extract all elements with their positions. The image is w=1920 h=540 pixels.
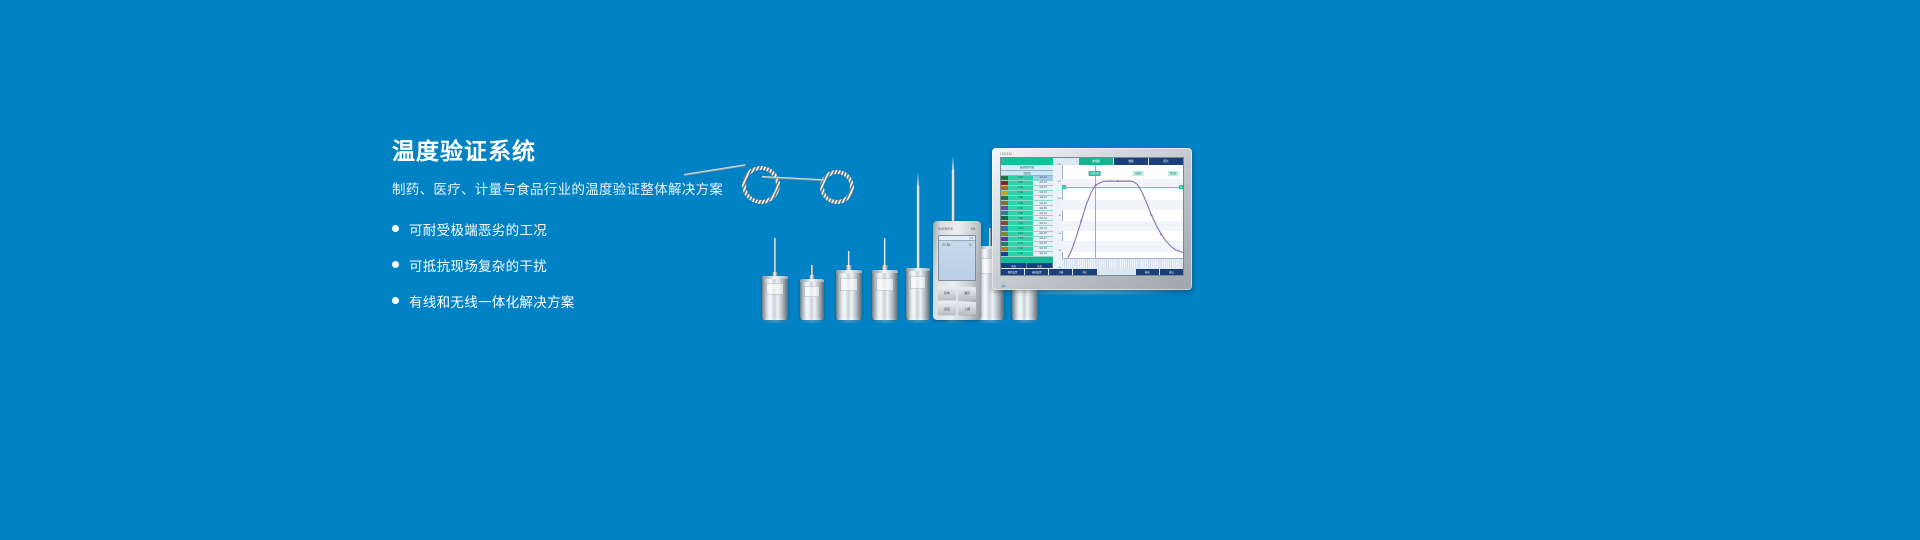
- channel-value: 121.55: [1033, 206, 1053, 210]
- channel-name: T-01: [1008, 176, 1033, 180]
- reader-keypad[interactable]: 菜单 确定 返回 上翻: [938, 287, 976, 315]
- channel-color-swatch: [1001, 186, 1008, 190]
- probe-needle-sensor: [906, 260, 930, 320]
- stop-button[interactable]: 停止: [1073, 269, 1096, 275]
- channel-name: T-15: [1008, 247, 1033, 251]
- param-settings-button[interactable]: 参数设置: [1001, 269, 1024, 275]
- probe-sensor: [800, 268, 824, 320]
- bullet-dot-icon: [392, 225, 399, 232]
- monitor-bezel: INON 曲线图 数据 报告: [992, 148, 1192, 290]
- channel-name: T-16: [1008, 252, 1033, 256]
- channel-name: T-08: [1008, 211, 1033, 215]
- bullet-dot-icon: [392, 297, 399, 304]
- probe-coil-icon: [820, 170, 854, 204]
- reader-key-up[interactable]: 上翻: [958, 302, 976, 315]
- channel-value: 121.29: [1033, 201, 1053, 205]
- channel-color-swatch: [1001, 252, 1008, 256]
- reader-key-confirm[interactable]: 确定: [958, 287, 976, 300]
- chart-data-point: [1095, 183, 1097, 185]
- channel-value: 121.31: [1033, 226, 1053, 230]
- channel-name: T-12: [1008, 232, 1033, 236]
- probe-shadow: [797, 317, 827, 324]
- channel-value: 121.27: [1033, 237, 1053, 241]
- chart-y-tick: 120: [1057, 181, 1061, 183]
- channel-value: 121.44: [1033, 221, 1053, 225]
- channel-color-swatch: [1001, 242, 1008, 246]
- chart-curve: [1062, 165, 1183, 269]
- probe-label: [877, 278, 894, 291]
- channel-value: 121.40: [1033, 211, 1053, 215]
- probe-shadow: [759, 317, 791, 324]
- report-button[interactable]: 报表: [1136, 269, 1159, 275]
- channel-name: T-05: [1008, 196, 1033, 200]
- channel-name: T-10: [1008, 221, 1033, 225]
- channel-row[interactable]: T-16121.45: [1001, 252, 1053, 257]
- probe-shadow: [903, 317, 933, 324]
- channel-name: T-14: [1008, 242, 1033, 246]
- reader-key-back[interactable]: 返回: [938, 302, 956, 315]
- reader-wifi-icon: wifi: [969, 237, 973, 240]
- channel-name: T-11: [1008, 226, 1033, 230]
- chart-y-tick: 20: [1059, 267, 1061, 269]
- probe-sensor: [762, 264, 788, 320]
- channel-name: T-09: [1008, 216, 1033, 220]
- probe-body-icon: [836, 270, 862, 320]
- probe-stem-icon: [989, 228, 991, 246]
- channel-value: 121.42: [1033, 176, 1053, 180]
- start-button[interactable]: 开始: [1049, 269, 1072, 275]
- monitor-brand-label: INON: [1000, 151, 1012, 156]
- probe-body-icon: [906, 268, 930, 320]
- channel-panel: 通道配置列表 温度值 T-01121.42T-02121.38T-03121.5…: [1001, 165, 1053, 269]
- product-scene: INONIKE M1 wifi 27.35 ℃ 菜单 确定 返回 上翻: [700, 110, 1220, 320]
- channel-name: T-07: [1008, 206, 1033, 210]
- channel-value: 121.51: [1033, 186, 1053, 190]
- software-screen: 曲线图 数据 报告 通道配置列表 温度值 T-01121.42T-02121.3…: [1000, 157, 1184, 276]
- probe-shadow: [833, 317, 865, 324]
- channel-value: 121.38: [1033, 181, 1053, 185]
- exit-button[interactable]: 退出: [1160, 269, 1183, 275]
- channel-value: 121.33: [1033, 191, 1053, 195]
- chart-y-tick: 60: [1059, 233, 1061, 235]
- monitor-power-led-icon: [1002, 285, 1005, 288]
- reader-model-label: M1: [971, 227, 976, 231]
- chart-canvas: A B 灭菌开始 时间点 保温段 降温段 F0值 结束: [1062, 165, 1183, 269]
- channel-value: 121.53: [1033, 242, 1053, 246]
- probe-body-icon: [800, 279, 824, 320]
- chart-y-tick: 100: [1057, 198, 1061, 200]
- channel-name: T-02: [1008, 181, 1033, 185]
- probe-shadow: [869, 317, 901, 324]
- probe-label: [767, 283, 784, 295]
- channel-rows[interactable]: T-01121.42T-02121.38T-03121.51T-04121.33…: [1001, 176, 1053, 264]
- probe-stem-icon: [774, 238, 776, 274]
- feature-label: 可耐受极端恶劣的工况: [409, 219, 547, 239]
- reader-brand-row: INONIKE M1: [933, 227, 981, 231]
- channel-color-swatch: [1001, 216, 1008, 220]
- channel-color-swatch: [1001, 176, 1008, 180]
- bullet-dot-icon: [392, 261, 399, 268]
- probe-sensor: [836, 254, 862, 320]
- probe-body-icon: [872, 270, 898, 320]
- channel-value: 121.45: [1033, 252, 1053, 256]
- channel-color-swatch: [1001, 247, 1008, 251]
- software-command-bar[interactable]: 参数设置 通道设置 开始 停止 报表 退出: [1001, 268, 1183, 275]
- reader-reading-value: 27.35: [942, 243, 950, 247]
- probe-label: [805, 286, 820, 297]
- probe-sensor: [872, 254, 898, 320]
- probe-label: [841, 278, 858, 291]
- channel-value: 121.49: [1033, 232, 1053, 236]
- probe-shadow: [1009, 317, 1041, 324]
- hero-banner: 温度验证系统 制药、医疗、计量与食品行业的温度验证整体解决方案 可耐受极端恶劣的…: [0, 0, 1920, 540]
- software-body: 通道配置列表 温度值 T-01121.42T-02121.38T-03121.5…: [1001, 165, 1183, 269]
- channel-value: 121.47: [1033, 196, 1053, 200]
- probe-needle-icon: [917, 186, 920, 270]
- probe-label: [911, 276, 926, 289]
- channel-color-swatch: [1001, 181, 1008, 185]
- channel-name: T-04: [1008, 191, 1033, 195]
- channel-value: 121.39: [1033, 247, 1053, 251]
- feature-label: 可抵抗现场复杂的干扰: [409, 255, 547, 275]
- channel-color-swatch: [1001, 237, 1008, 241]
- channel-color-swatch: [1001, 196, 1008, 200]
- probe-coil-icon: [742, 166, 780, 204]
- channel-color-swatch: [1001, 211, 1008, 215]
- probe-body-icon: [762, 276, 788, 320]
- channel-value: 121.36: [1033, 216, 1053, 220]
- reader-brand-label: INONIKE: [938, 227, 953, 231]
- reader-reading-row: 27.35 ℃: [939, 241, 975, 247]
- channel-name: T-06: [1008, 201, 1033, 205]
- channel-color-swatch: [1001, 232, 1008, 236]
- reader-reading-unit: ℃: [968, 243, 972, 247]
- feature-label: 有线和无线一体化解决方案: [409, 291, 575, 311]
- chart-data-point: [1160, 233, 1162, 235]
- channel-name: T-03: [1008, 186, 1033, 190]
- channel-color-swatch: [1001, 206, 1008, 210]
- chart-data-point: [1150, 214, 1152, 216]
- channel-color-swatch: [1001, 201, 1008, 205]
- command-bar-spacer: [1098, 269, 1135, 275]
- handheld-reader[interactable]: INONIKE M1 wifi 27.35 ℃ 菜单 确定 返回 上翻: [933, 221, 981, 320]
- chart-y-tick: 40: [1059, 250, 1061, 252]
- probe-stem-icon: [884, 238, 886, 268]
- reader-key-menu[interactable]: 菜单: [938, 287, 956, 300]
- reader-screen: wifi 27.35 ℃: [938, 235, 976, 281]
- temperature-chart[interactable]: 14012010080604020 A B 灭菌开始: [1053, 165, 1183, 269]
- channel-name: T-13: [1008, 237, 1033, 241]
- channel-settings-button[interactable]: 通道设置: [1025, 269, 1048, 275]
- chart-data-point: [1117, 180, 1119, 182]
- channel-color-swatch: [1001, 221, 1008, 225]
- chart-y-tick: 140: [1057, 164, 1061, 166]
- chart-y-tick: 80: [1059, 215, 1061, 217]
- monitor-shadow: [992, 288, 1192, 296]
- channel-color-swatch: [1001, 191, 1008, 195]
- validation-monitor: INON 曲线图 数据 报告: [992, 148, 1192, 290]
- chart-x-axis[interactable]: [1062, 258, 1183, 268]
- chart-data-point: [1080, 219, 1082, 221]
- channel-color-swatch: [1001, 226, 1008, 230]
